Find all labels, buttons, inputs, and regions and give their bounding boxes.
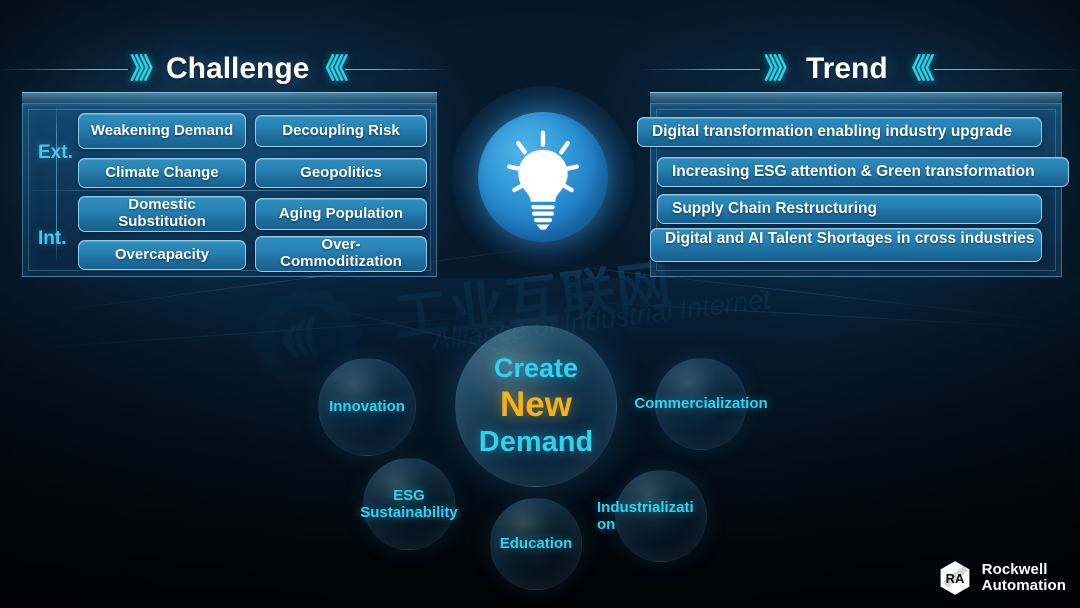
header-rule-left — [640, 69, 760, 70]
rockwell-automation-logo: RA Rockwell Automation — [937, 560, 1066, 596]
challenge-group-divider-horizontal — [30, 190, 428, 191]
challenge-header: 》》 Challenge 《《 — [0, 48, 450, 90]
challenge-group-label-int: Int. — [38, 228, 67, 250]
chevron-left-icon: 《《 — [311, 55, 343, 83]
ra-badge-icon: RA — [937, 560, 973, 596]
trend-title: Trend — [806, 52, 888, 86]
bubble-label: Education — [500, 535, 573, 552]
lightbulb-badge — [478, 112, 608, 242]
trend-item-talent-shortage[interactable]: Digital and AI Talent Shortages in cross… — [650, 228, 1042, 262]
header-rule-right — [345, 69, 450, 70]
core-line-create: Create — [494, 353, 578, 384]
core-line-demand: Demand — [479, 426, 593, 459]
chevron-right-icon: 》》 — [764, 55, 796, 83]
trend-header: 》》 Trend 《《 — [640, 48, 1080, 90]
svg-text:RA: RA — [945, 571, 964, 586]
trend-item-digital-transformation[interactable]: Digital transformation enabling industry… — [637, 117, 1042, 147]
bubble-industrialization[interactable]: Industrializati on — [615, 470, 707, 562]
challenge-item-over-commoditization[interactable]: Over-Commoditization — [255, 236, 427, 272]
challenge-item-aging-population[interactable]: Aging Population — [255, 198, 427, 230]
challenge-title: Challenge — [166, 52, 309, 86]
logo-line-automation: Automation — [982, 578, 1066, 594]
chevron-right-icon: 》》 — [130, 55, 162, 83]
bubble-commercialization[interactable]: Commercialization — [655, 358, 747, 450]
challenge-item-geopolitics[interactable]: Geopolitics — [255, 158, 427, 188]
bubble-education[interactable]: Education — [490, 498, 582, 590]
bubble-label: ESG Sustainability — [360, 487, 458, 522]
core-bubble[interactable]: Create New Demand — [455, 325, 617, 487]
challenge-item-climate-change[interactable]: Climate Change — [78, 158, 246, 188]
header-rule-right — [934, 69, 1080, 70]
bubble-esg-sustainability[interactable]: ESG Sustainability — [363, 458, 455, 550]
challenge-group-label-ext: Ext. — [38, 142, 73, 164]
core-line-new: New — [500, 385, 572, 425]
logo-line-rockwell: Rockwell — [982, 562, 1066, 578]
bubble-innovation[interactable]: Innovation — [318, 358, 416, 456]
slide-canvas: 工业互联网 Alliance of Industrial Internet 》》… — [0, 0, 1080, 608]
bubble-label: Commercialization — [634, 395, 767, 412]
lightbulb-icon — [478, 112, 608, 242]
header-rule-left — [0, 69, 128, 70]
logo-wordmark: Rockwell Automation — [982, 562, 1066, 594]
challenge-item-overcapacity[interactable]: Overcapacity — [78, 240, 246, 270]
challenge-item-decoupling-risk[interactable]: Decoupling Risk — [255, 115, 427, 147]
trend-item-supply-chain[interactable]: Supply Chain Restructuring — [657, 194, 1042, 224]
challenge-item-domestic-substitution[interactable]: Domestic Substitution — [78, 196, 246, 232]
chevron-left-icon: 《《 — [898, 55, 930, 83]
challenge-item-weakening-demand[interactable]: Weakening Demand — [78, 113, 246, 149]
trend-item-esg-green[interactable]: Increasing ESG attention & Green transfo… — [657, 157, 1069, 187]
bubble-label: Innovation — [329, 398, 405, 415]
bubble-label: Industrializati on — [597, 499, 707, 534]
